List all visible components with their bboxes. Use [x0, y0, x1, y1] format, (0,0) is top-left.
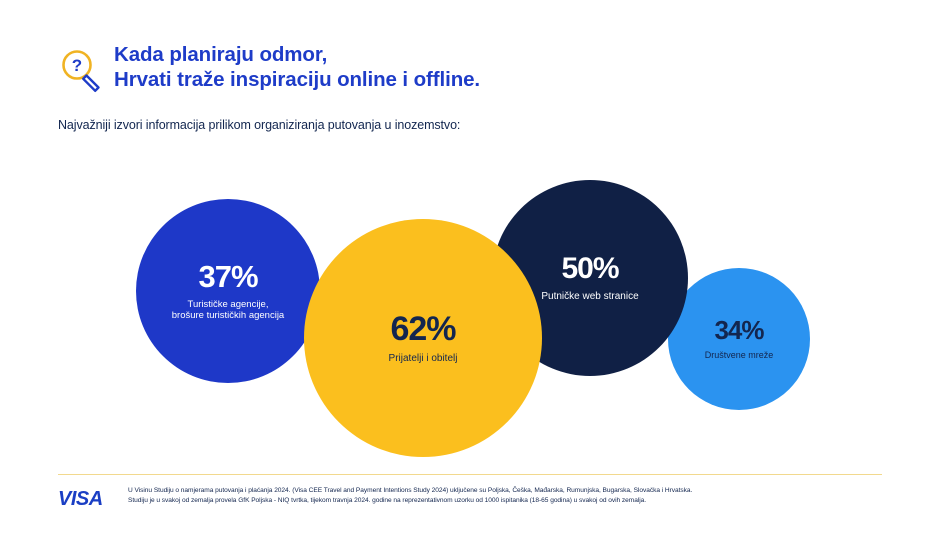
bubble-label: Putničke web stranice [541, 291, 638, 303]
bubble-label: Društvene mreže [705, 350, 774, 361]
footnote-line-1: U Visinu Studiju o namjerama putovanja i… [128, 486, 692, 496]
bubble-value: 50% [561, 254, 618, 284]
footer: VISA U Visinu Studiju o namjerama putova… [58, 486, 888, 509]
bubble-social-networks: 34% Društvene mreže [668, 268, 810, 410]
infographic-page: ? Kada planiraju odmor, Hrvati traže ins… [0, 0, 940, 542]
bubble-label-line-1: Prijatelji i obitelj [389, 353, 458, 365]
footnote-line-2: Studiju je u svakoj od zemalja provela G… [128, 496, 692, 506]
bubble-chart: 37% Turističke agencije, brošure turisti… [0, 0, 940, 470]
footnote: U Visinu Studiju o namjerama putovanja i… [128, 486, 692, 506]
bubble-tourist-agencies: 37% Turističke agencije, brošure turisti… [136, 199, 320, 383]
bubble-label-line-1: Turističke agencije, [172, 299, 284, 310]
bubble-label: Turističke agencije, brošure turističkih… [172, 299, 284, 322]
footer-divider [58, 474, 882, 475]
bubble-label: Prijatelji i obitelj [389, 353, 458, 365]
bubble-value: 34% [714, 317, 763, 343]
bubble-label-line-1: Društvene mreže [705, 350, 774, 361]
visa-logo: VISA [58, 489, 120, 509]
bubble-label-line-2: brošure turističkih agencija [172, 310, 284, 321]
bubble-friends-family: 62% Prijatelji i obitelj [304, 219, 542, 457]
bubble-value: 37% [198, 261, 257, 292]
bubble-label-line-1: Putničke web stranice [541, 291, 638, 303]
bubble-value: 62% [390, 312, 455, 346]
